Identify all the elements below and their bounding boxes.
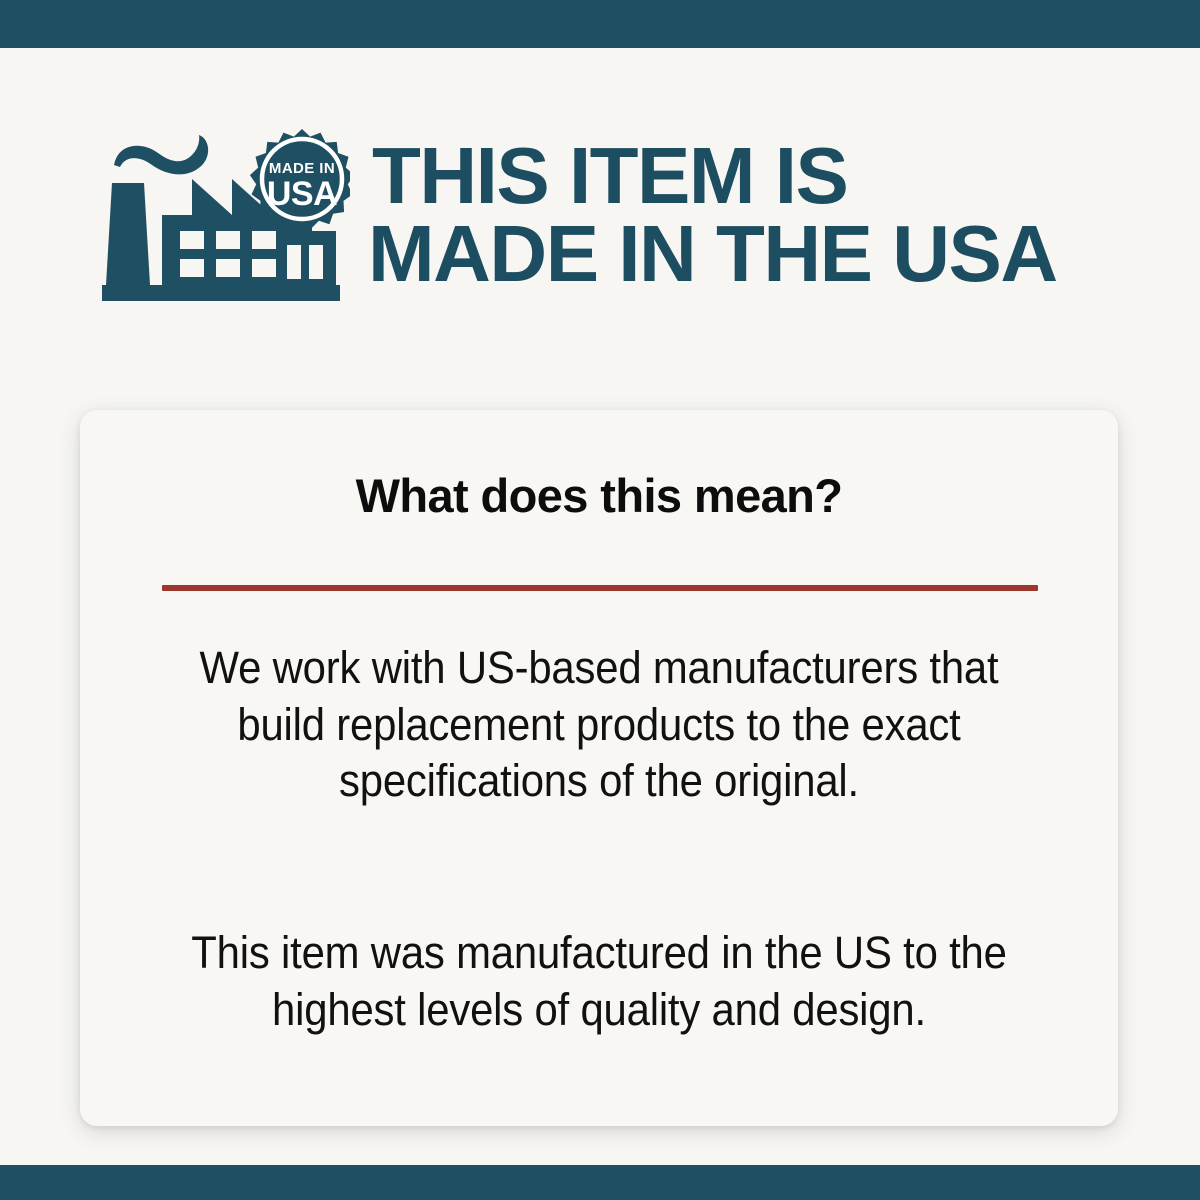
header: MADE IN USA THIS ITEM IS MADE IN THE USA (0, 100, 1200, 330)
bottom-accent-bar (0, 1165, 1200, 1200)
card-heading: What does this mean? (80, 468, 1118, 523)
factory-base (102, 285, 340, 301)
factory-icon: MADE IN USA (100, 123, 350, 308)
chimney-icon (106, 183, 150, 285)
card-paragraph-1: We work with US-based manufacturers that… (172, 640, 1026, 810)
info-card: What does this mean? We work with US-bas… (80, 410, 1118, 1126)
page-canvas: MADE IN USA THIS ITEM IS MADE IN THE USA… (0, 48, 1200, 1165)
smoke-plume-icon (114, 135, 208, 174)
headline-line-2: MADE IN THE USA (368, 215, 1057, 293)
card-paragraph-2: This item was manufactured in the US to … (172, 925, 1026, 1038)
factory-logo: MADE IN USA (100, 123, 350, 308)
card-divider (162, 585, 1038, 591)
top-accent-bar (0, 0, 1200, 48)
badge-bottom-text: USA (267, 175, 337, 213)
page-title: THIS ITEM IS MADE IN THE USA (368, 137, 1057, 294)
headline-line-1: THIS ITEM IS (368, 137, 1057, 215)
